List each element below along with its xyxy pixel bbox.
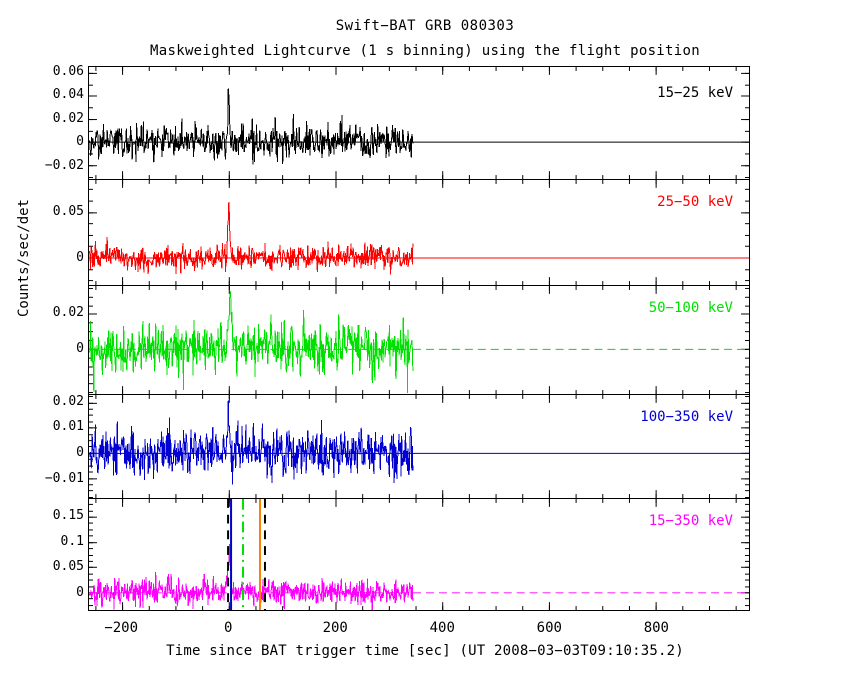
figure-title: Swift−BAT GRB 080303 xyxy=(0,18,850,34)
x-axis-label: Time since BAT trigger time [sec] (UT 20… xyxy=(0,643,850,659)
y-tick-label: 0.15 xyxy=(8,508,84,523)
x-tick-label: 400 xyxy=(402,620,482,636)
y-tick-label: 0.02 xyxy=(8,394,84,409)
lightcurve-panel-2: 25−50 keV xyxy=(88,179,750,286)
panel-energy-label: 15−350 keV xyxy=(649,513,733,529)
panel-energy-label: 100−350 keV xyxy=(640,409,733,425)
y-tick-label: 0.05 xyxy=(8,559,84,574)
y-tick-label: 0 xyxy=(8,585,84,600)
y-axis-tick-labels: −0.0200.020.040.0600.0500.02−0.0100.010.… xyxy=(0,66,84,615)
panel-energy-label: 50−100 keV xyxy=(649,300,733,316)
panel-energy-label: 25−50 keV xyxy=(657,194,733,210)
y-tick-label: 0.01 xyxy=(8,419,84,434)
x-tick-label: −200 xyxy=(81,620,161,636)
y-tick-label: 0.02 xyxy=(8,305,84,320)
panel-energy-label: 15−25 keV xyxy=(657,85,733,101)
lightcurve-panel-3: 50−100 keV xyxy=(88,285,750,395)
lightcurve-trace xyxy=(90,292,413,393)
lightcurve-trace xyxy=(90,202,413,274)
x-tick-label: 200 xyxy=(295,620,375,636)
lightcurve-panel-5: 15−350 keV xyxy=(88,498,750,611)
y-tick-label: 0 xyxy=(8,250,84,265)
x-tick-label: 800 xyxy=(616,620,696,636)
x-tick-label: 0 xyxy=(188,620,268,636)
lightcurve-trace xyxy=(90,89,413,165)
y-tick-label: 0.04 xyxy=(8,87,84,102)
y-tick-label: 0.06 xyxy=(8,64,84,79)
lightcurve-panel-1: 15−25 keV xyxy=(88,66,750,180)
y-tick-label: −0.02 xyxy=(8,158,84,173)
y-tick-label: 0.05 xyxy=(8,204,84,219)
x-tick-label: 600 xyxy=(509,620,589,636)
y-tick-label: 0.1 xyxy=(8,534,84,549)
figure-subtitle: Maskweighted Lightcurve (1 s binning) us… xyxy=(0,43,850,59)
y-tick-label: 0 xyxy=(8,134,84,149)
y-tick-label: 0 xyxy=(8,445,84,460)
lightcurve-trace xyxy=(90,400,413,484)
lightcurve-figure: Swift−BAT GRB 080303 Maskweighted Lightc… xyxy=(0,0,850,680)
panel-stack: 15−25 keV25−50 keV50−100 keV100−350 keV1… xyxy=(88,66,750,615)
lightcurve-panel-4: 100−350 keV xyxy=(88,394,750,499)
y-tick-label: −0.01 xyxy=(8,471,84,486)
lightcurve-trace xyxy=(90,544,413,610)
y-tick-label: 0.02 xyxy=(8,111,84,126)
y-tick-label: 0 xyxy=(8,341,84,356)
x-axis-tick-labels: −2000200400600800 xyxy=(88,618,750,642)
